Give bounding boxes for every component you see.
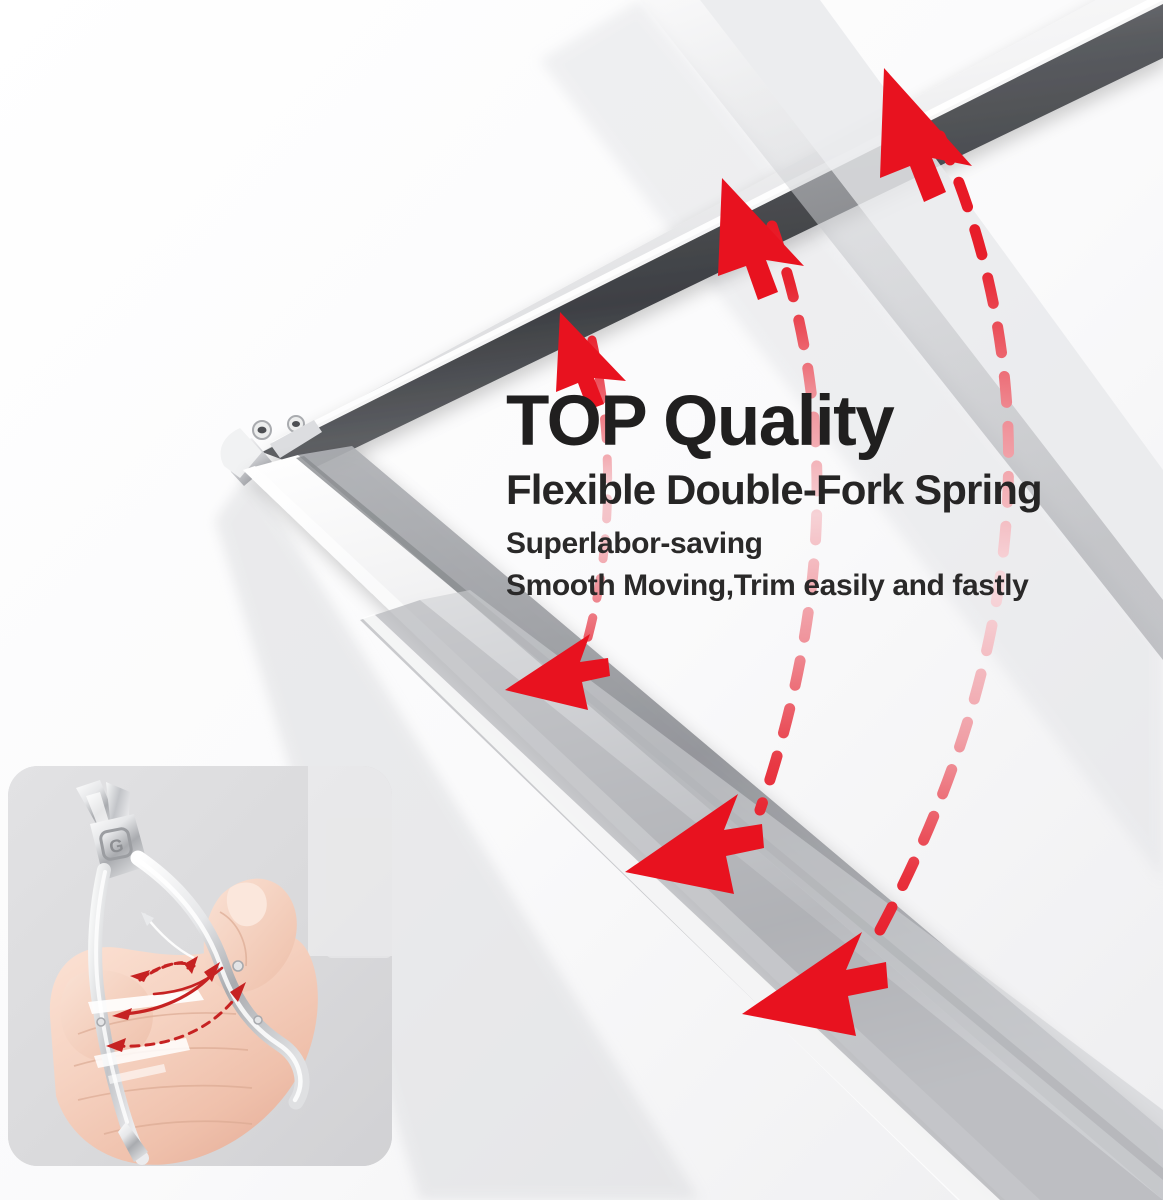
subtitle: Flexible Double-Fork Spring [506, 468, 1126, 512]
marketing-copy: TOP Quality Flexible Double-Fork Spring … [506, 388, 1126, 608]
hero-banner: TOP Quality Flexible Double-Fork Spring … [0, 0, 1163, 1200]
page-title: TOP Quality [506, 388, 1126, 455]
inset-illustration: G [8, 766, 392, 1166]
body-line-2: Smooth Moving,Trim easily and fastly [506, 565, 1126, 608]
usage-inset-thumbnail: G [8, 766, 392, 1166]
body-line-1: Superlabor-saving [506, 523, 1126, 566]
